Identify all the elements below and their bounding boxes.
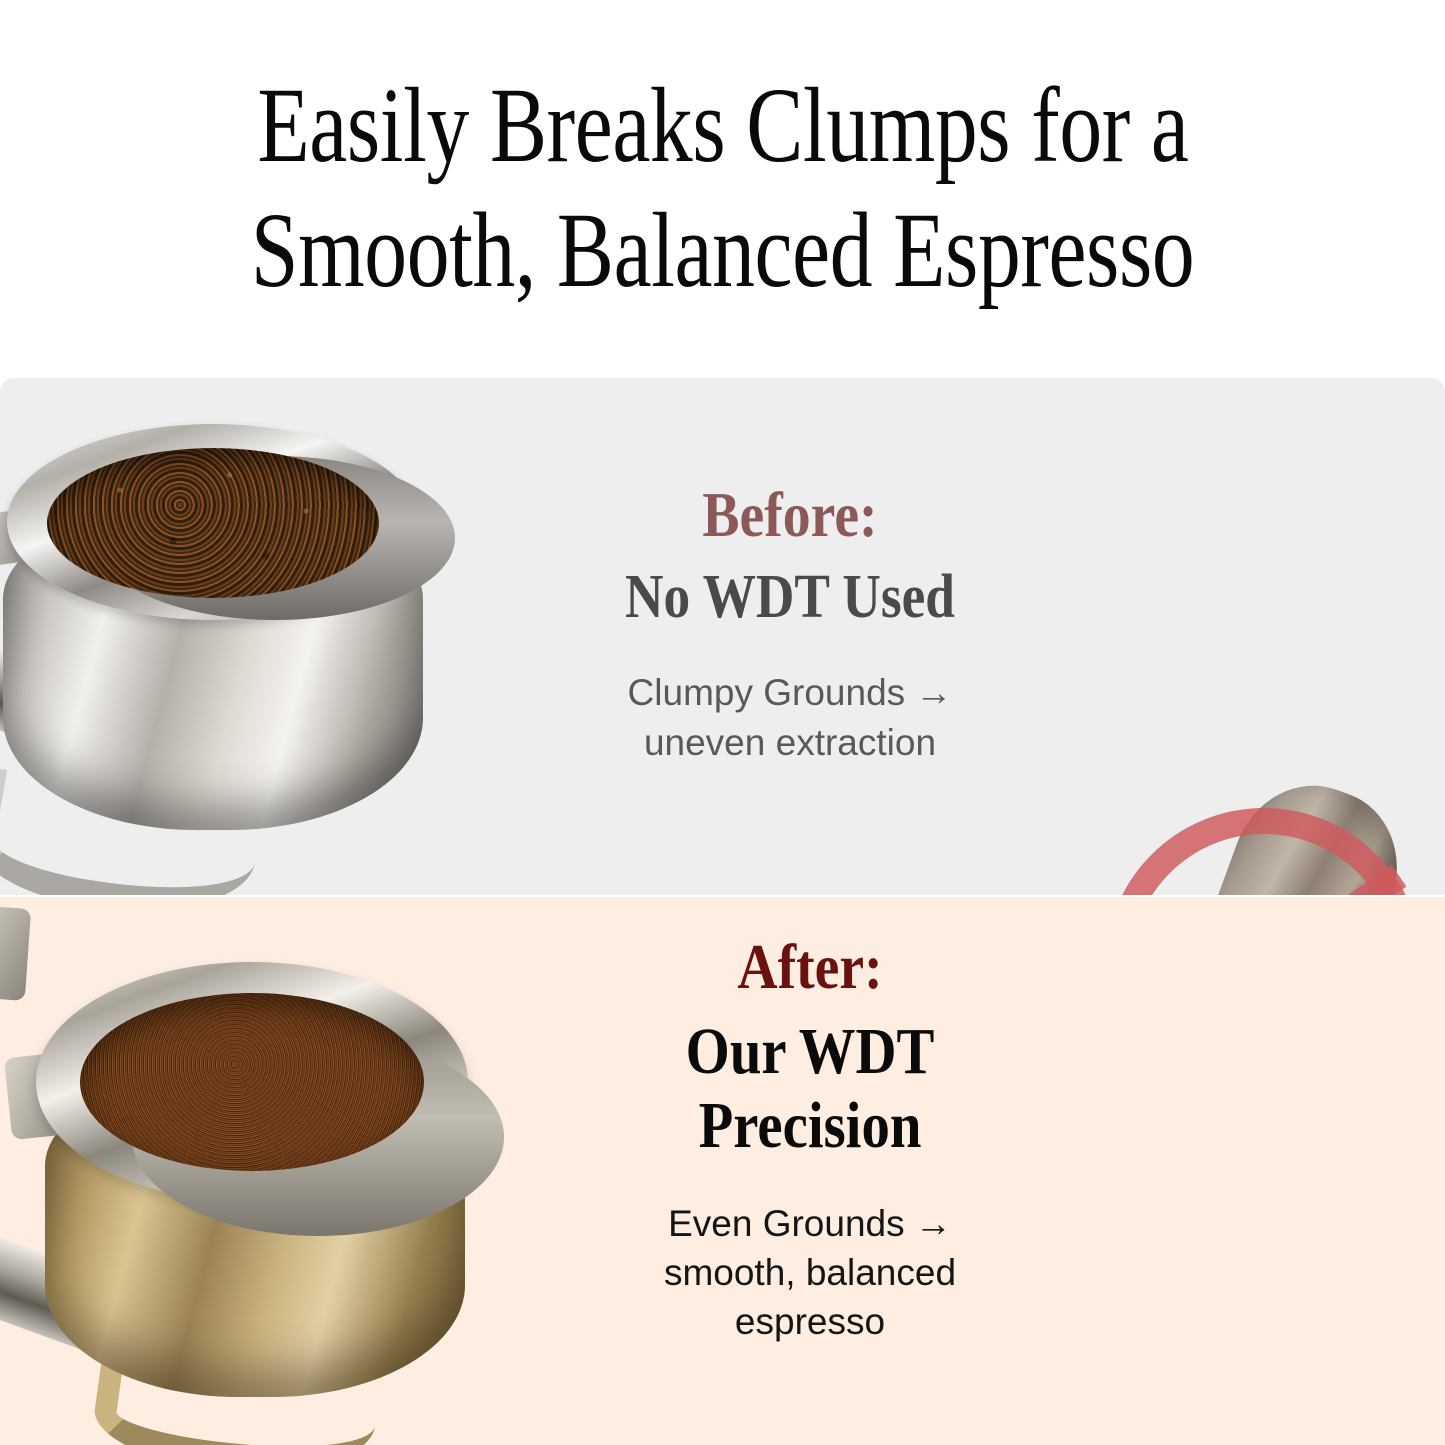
after-body-line-2: smooth, balanced [560,1248,1060,1297]
after-body-line-3: espresso [560,1297,1060,1346]
before-body-line-2: uneven extraction [540,718,1040,767]
header-banner: Easily Breaks Clumps for a Smooth, Balan… [0,0,1445,378]
after-subheading-line-1: Our WDT [595,1015,1025,1089]
after-subheading-line-2: Precision [595,1089,1025,1163]
page-title-line-1: Easily Breaks Clumps for a [257,64,1188,189]
before-eyebrow-label: Before: [573,483,1008,547]
before-copy-block: Before: No WDT Used Clumpy Grounds → une… [540,483,1040,767]
after-subheading: Our WDT Precision [595,1015,1025,1163]
after-copy-block: After: Our WDT Precision Even Grounds → … [560,935,1060,1346]
before-section: Before: No WDT Used Clumpy Grounds → une… [0,378,1445,895]
before-portafilter-image [0,408,485,895]
before-body-line-1: Clumpy Grounds → [540,668,1040,717]
portafilter-lug-right [0,905,31,1001]
after-body-line-1: Even Grounds → [560,1199,1060,1248]
infographic-page: Easily Breaks Clumps for a Smooth, Balan… [0,0,1445,1445]
clumpy-coffee-grounds [47,448,379,598]
page-title-line-2: Smooth, Balanced Espresso [251,189,1194,314]
prohibition-icon [1105,808,1423,895]
even-coffee-grounds [80,993,424,1171]
before-subheading: No WDT Used [575,563,1005,632]
after-body-text: Even Grounds → smooth, balanced espresso [560,1199,1060,1347]
after-eyebrow-label: After: [593,935,1028,999]
after-section: After: Our WDT Precision Even Grounds → … [0,897,1445,1445]
after-portafilter-image [0,907,550,1445]
before-body-text: Clumpy Grounds → uneven extraction [540,668,1040,766]
